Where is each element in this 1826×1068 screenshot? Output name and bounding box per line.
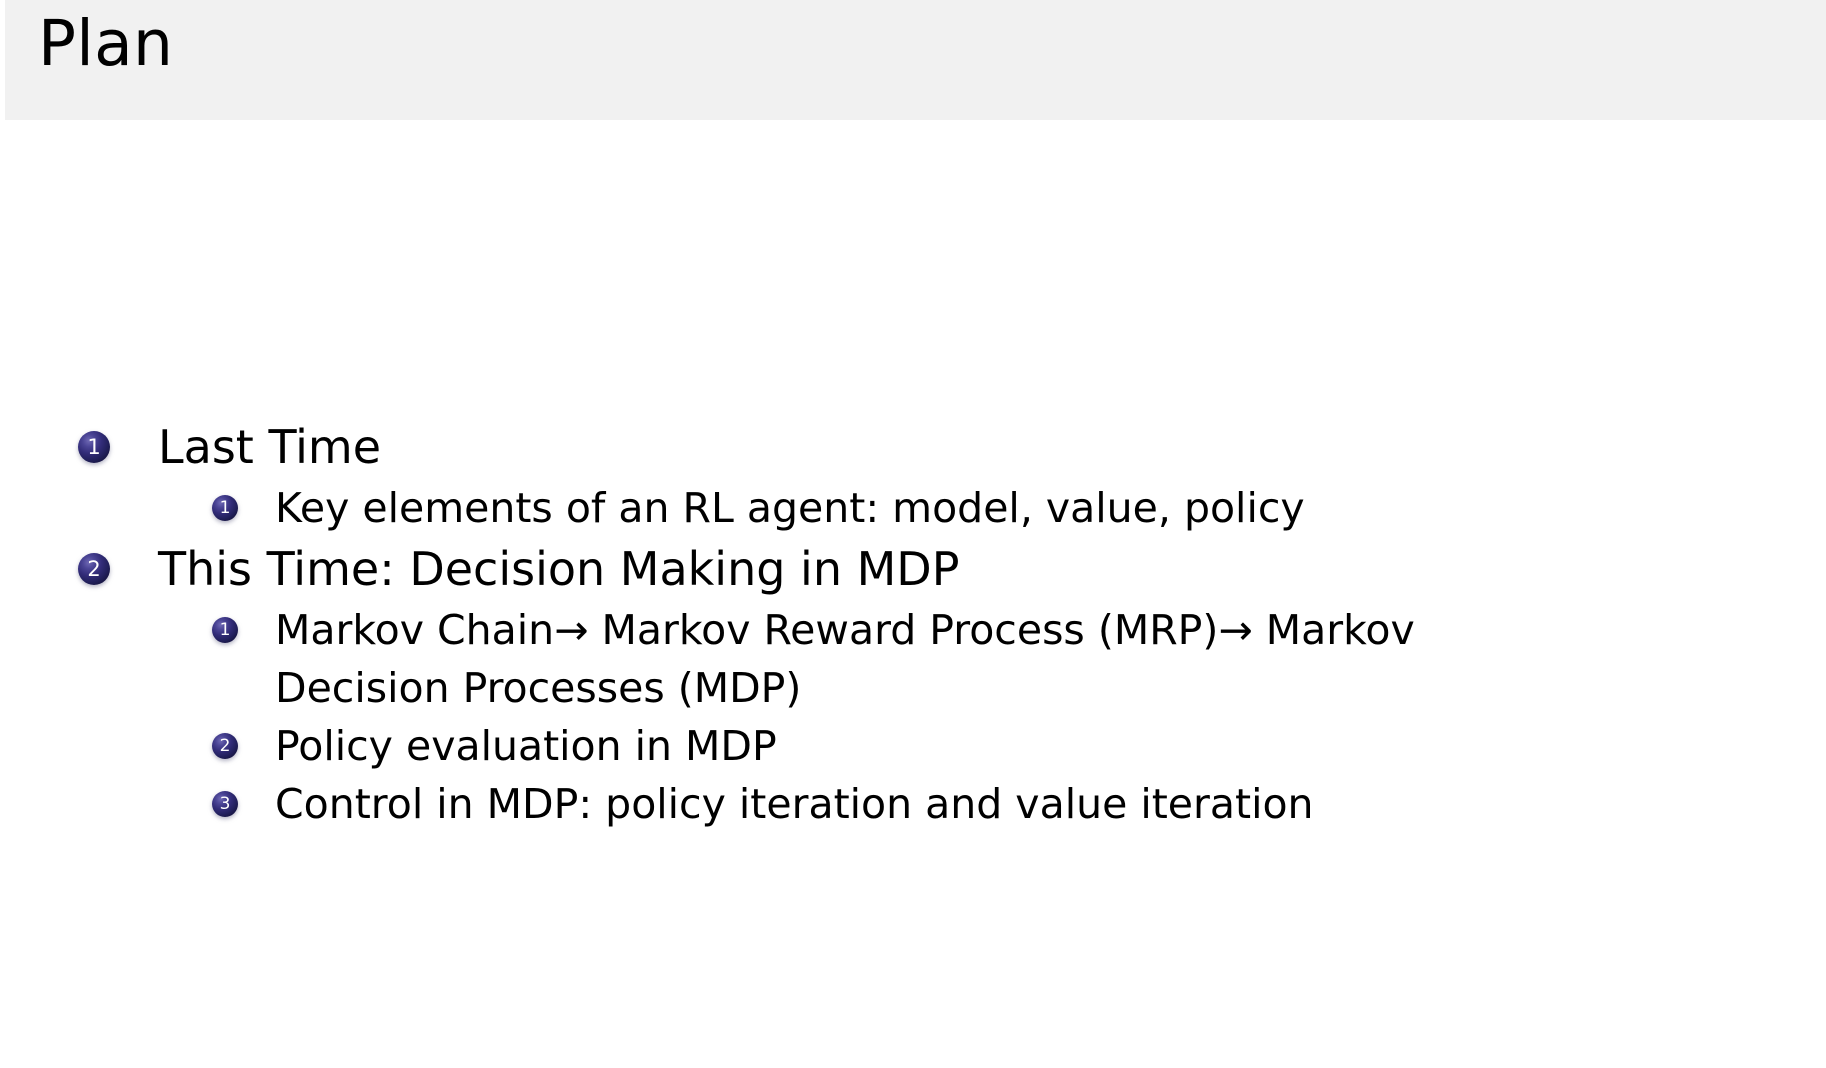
outline-subitem-label: Key elements of an RL agent: model, valu… [275,479,1826,537]
outline-item-last-time[interactable]: 1 Last Time [0,415,1826,479]
outline-subitem-key-elements[interactable]: 1 Key elements of an RL agent: model, va… [0,479,1826,537]
outline-item-label: Last Time [158,420,381,474]
page-title: Plan [38,12,173,75]
frame-title-bar: Plan [5,0,1826,120]
outline-item-this-time[interactable]: 2 This Time: Decision Making in MDP [0,537,1826,601]
outline-sublist-last-time: 1 Key elements of an RL agent: model, va… [0,479,1826,537]
bullet-number-icon: 2 [78,553,110,585]
outline-subitem-markov-chain[interactable]: 1 Markov Chain→ Markov Reward Process (M… [0,601,1826,717]
outline-subitem-policy-evaluation[interactable]: 2 Policy evaluation in MDP [0,717,1826,775]
outline-sublist-this-time: 1 Markov Chain→ Markov Reward Process (M… [0,601,1826,833]
bullet-number-icon: 3 [212,791,238,817]
outline-list: 1 Last Time 1 Key elements of an RL agen… [0,415,1826,833]
bullet-number-icon: 1 [212,495,238,521]
bullet-number-icon: 1 [212,617,238,643]
bullet-number-icon: 2 [212,733,238,759]
outline-subitem-control[interactable]: 3 Control in MDP: policy iteration and v… [0,775,1826,833]
bullet-number-icon: 1 [78,431,110,463]
slide-body: 1 Last Time 1 Key elements of an RL agen… [0,120,1826,1068]
outline-subitem-label: Control in MDP: policy iteration and val… [275,775,1826,833]
outline-item-label: This Time: Decision Making in MDP [158,542,959,596]
outline-subitem-label: Markov Chain→ Markov Reward Process (MRP… [275,601,1540,717]
slide: Plan 1 Last Time 1 Key elements of an RL… [0,0,1826,1068]
outline-subitem-label: Policy evaluation in MDP [275,717,1826,775]
